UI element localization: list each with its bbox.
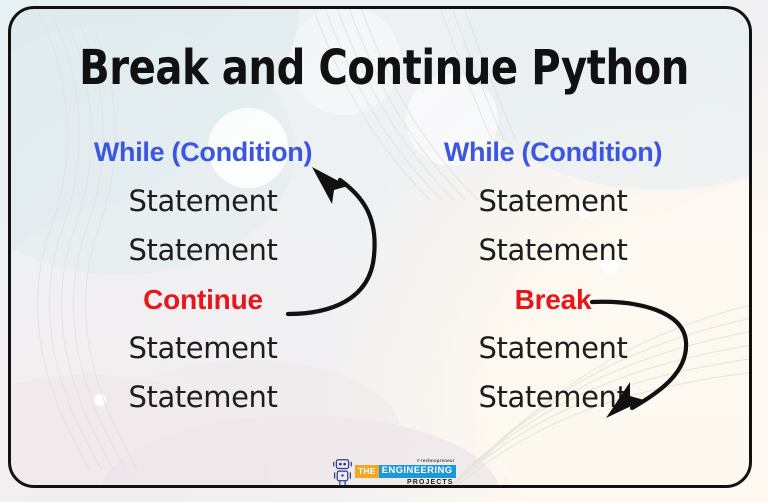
logo-wordmark: # technopreneur THE ENGINEERING PROJECTS (355, 459, 456, 486)
slide-canvas: Break and Continue Python While (Conditi… (0, 0, 768, 502)
robot-icon (332, 458, 353, 486)
logo-word-the: THE (355, 465, 379, 478)
code-line-statement: Statement (388, 226, 718, 275)
code-line-statement: Statement (388, 324, 718, 373)
code-line-statement: Statement (38, 373, 368, 422)
code-line-statement: Statement (388, 373, 718, 422)
logo-word-engineering: ENGINEERING (379, 465, 456, 478)
code-line-while: While (Condition) (38, 128, 368, 177)
code-line-continue: Continue (38, 275, 368, 324)
logo-main-row: THE ENGINEERING (355, 465, 456, 478)
code-line-statement: Statement (38, 226, 368, 275)
code-line-statement: Statement (38, 177, 368, 226)
page-title: Break and Continue Python (27, 40, 741, 96)
code-line-while: While (Condition) (388, 128, 718, 177)
code-line-statement: Statement (38, 324, 368, 373)
code-line-statement: Statement (388, 177, 718, 226)
logo-bottom-row: PROJECTS (355, 478, 456, 487)
code-block-continue: While (Condition) Statement Statement Co… (38, 128, 368, 422)
code-line-break: Break (388, 275, 718, 324)
code-block-break: While (Condition) Statement Statement Br… (388, 128, 718, 422)
logo-word-projects: PROJECTS (407, 479, 454, 486)
logo-tagline: # technopreneur (417, 459, 454, 463)
brand-logo[interactable]: # technopreneur THE ENGINEERING PROJECTS (332, 452, 444, 486)
